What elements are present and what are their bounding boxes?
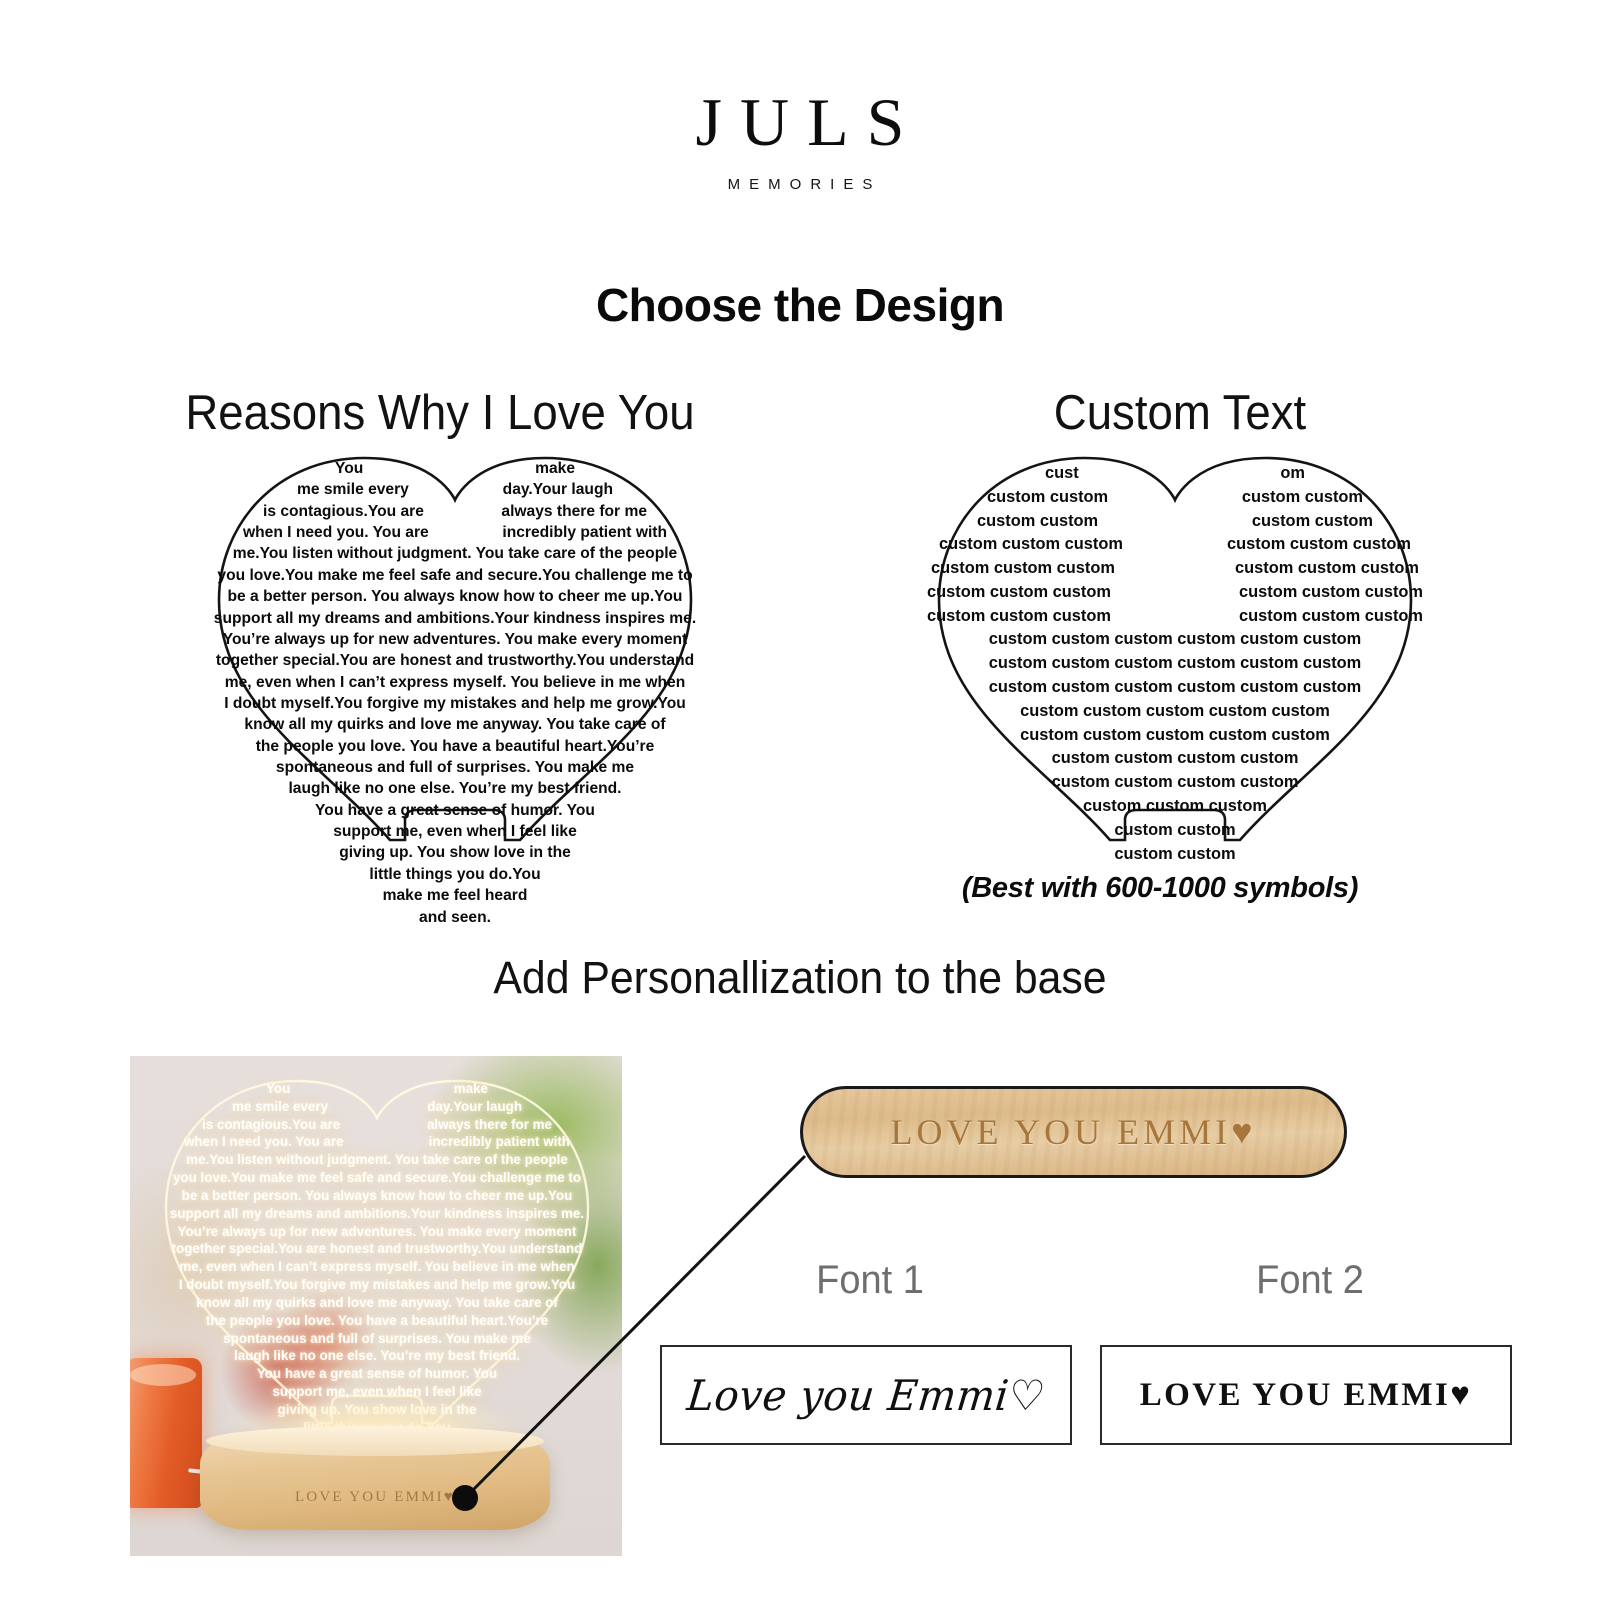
symbols-hint: (Best with 600-1000 symbols)	[880, 872, 1440, 905]
option-title-custom: Custom Text	[938, 385, 1422, 441]
heart-line: make me feel heard	[383, 885, 528, 906]
heart-line: and seen.	[419, 907, 491, 928]
design-option-custom[interactable]: cust om custom custom custom custom cust…	[925, 448, 1425, 868]
plaque-closeup: LOVE YOU EMMI♥	[800, 1086, 1347, 1178]
callout-dot	[452, 1485, 478, 1511]
callout-leader-line	[420, 1120, 840, 1540]
font-2-sample-text: LOVE YOU EMMI♥	[1140, 1377, 1472, 1414]
brand-name: JULS	[0, 88, 1600, 156]
heart-outline-icon	[925, 448, 1425, 868]
page-title: Choose the Design	[0, 278, 1600, 332]
font-1-label: Font 1	[671, 1258, 1070, 1303]
brand-tagline: MEMORIES	[0, 176, 1600, 193]
font-1-option[interactable]: Love you Emmi♡	[660, 1345, 1072, 1445]
section-title-personalization: Add Personallization to the base	[40, 952, 1560, 1004]
brand-logo: JULS MEMORIES	[0, 88, 1600, 193]
font-2-option[interactable]: LOVE YOU EMMI♥	[1100, 1345, 1512, 1445]
product-listing-page: JULS MEMORIES Choose the Design Reasons …	[0, 0, 1600, 1600]
option-title-reasons: Reasons Why I Love You	[142, 385, 737, 441]
heart-outline-icon	[205, 448, 705, 868]
font-2-label: Font 2	[1111, 1258, 1510, 1303]
font-1-sample-text: Love you Emmi♡	[684, 1371, 1047, 1420]
design-option-reasons[interactable]: You make me smile every day.Your laugh i…	[205, 448, 705, 868]
plaque-engraving-text: LOVE YOU EMMI♥	[803, 1089, 1344, 1175]
